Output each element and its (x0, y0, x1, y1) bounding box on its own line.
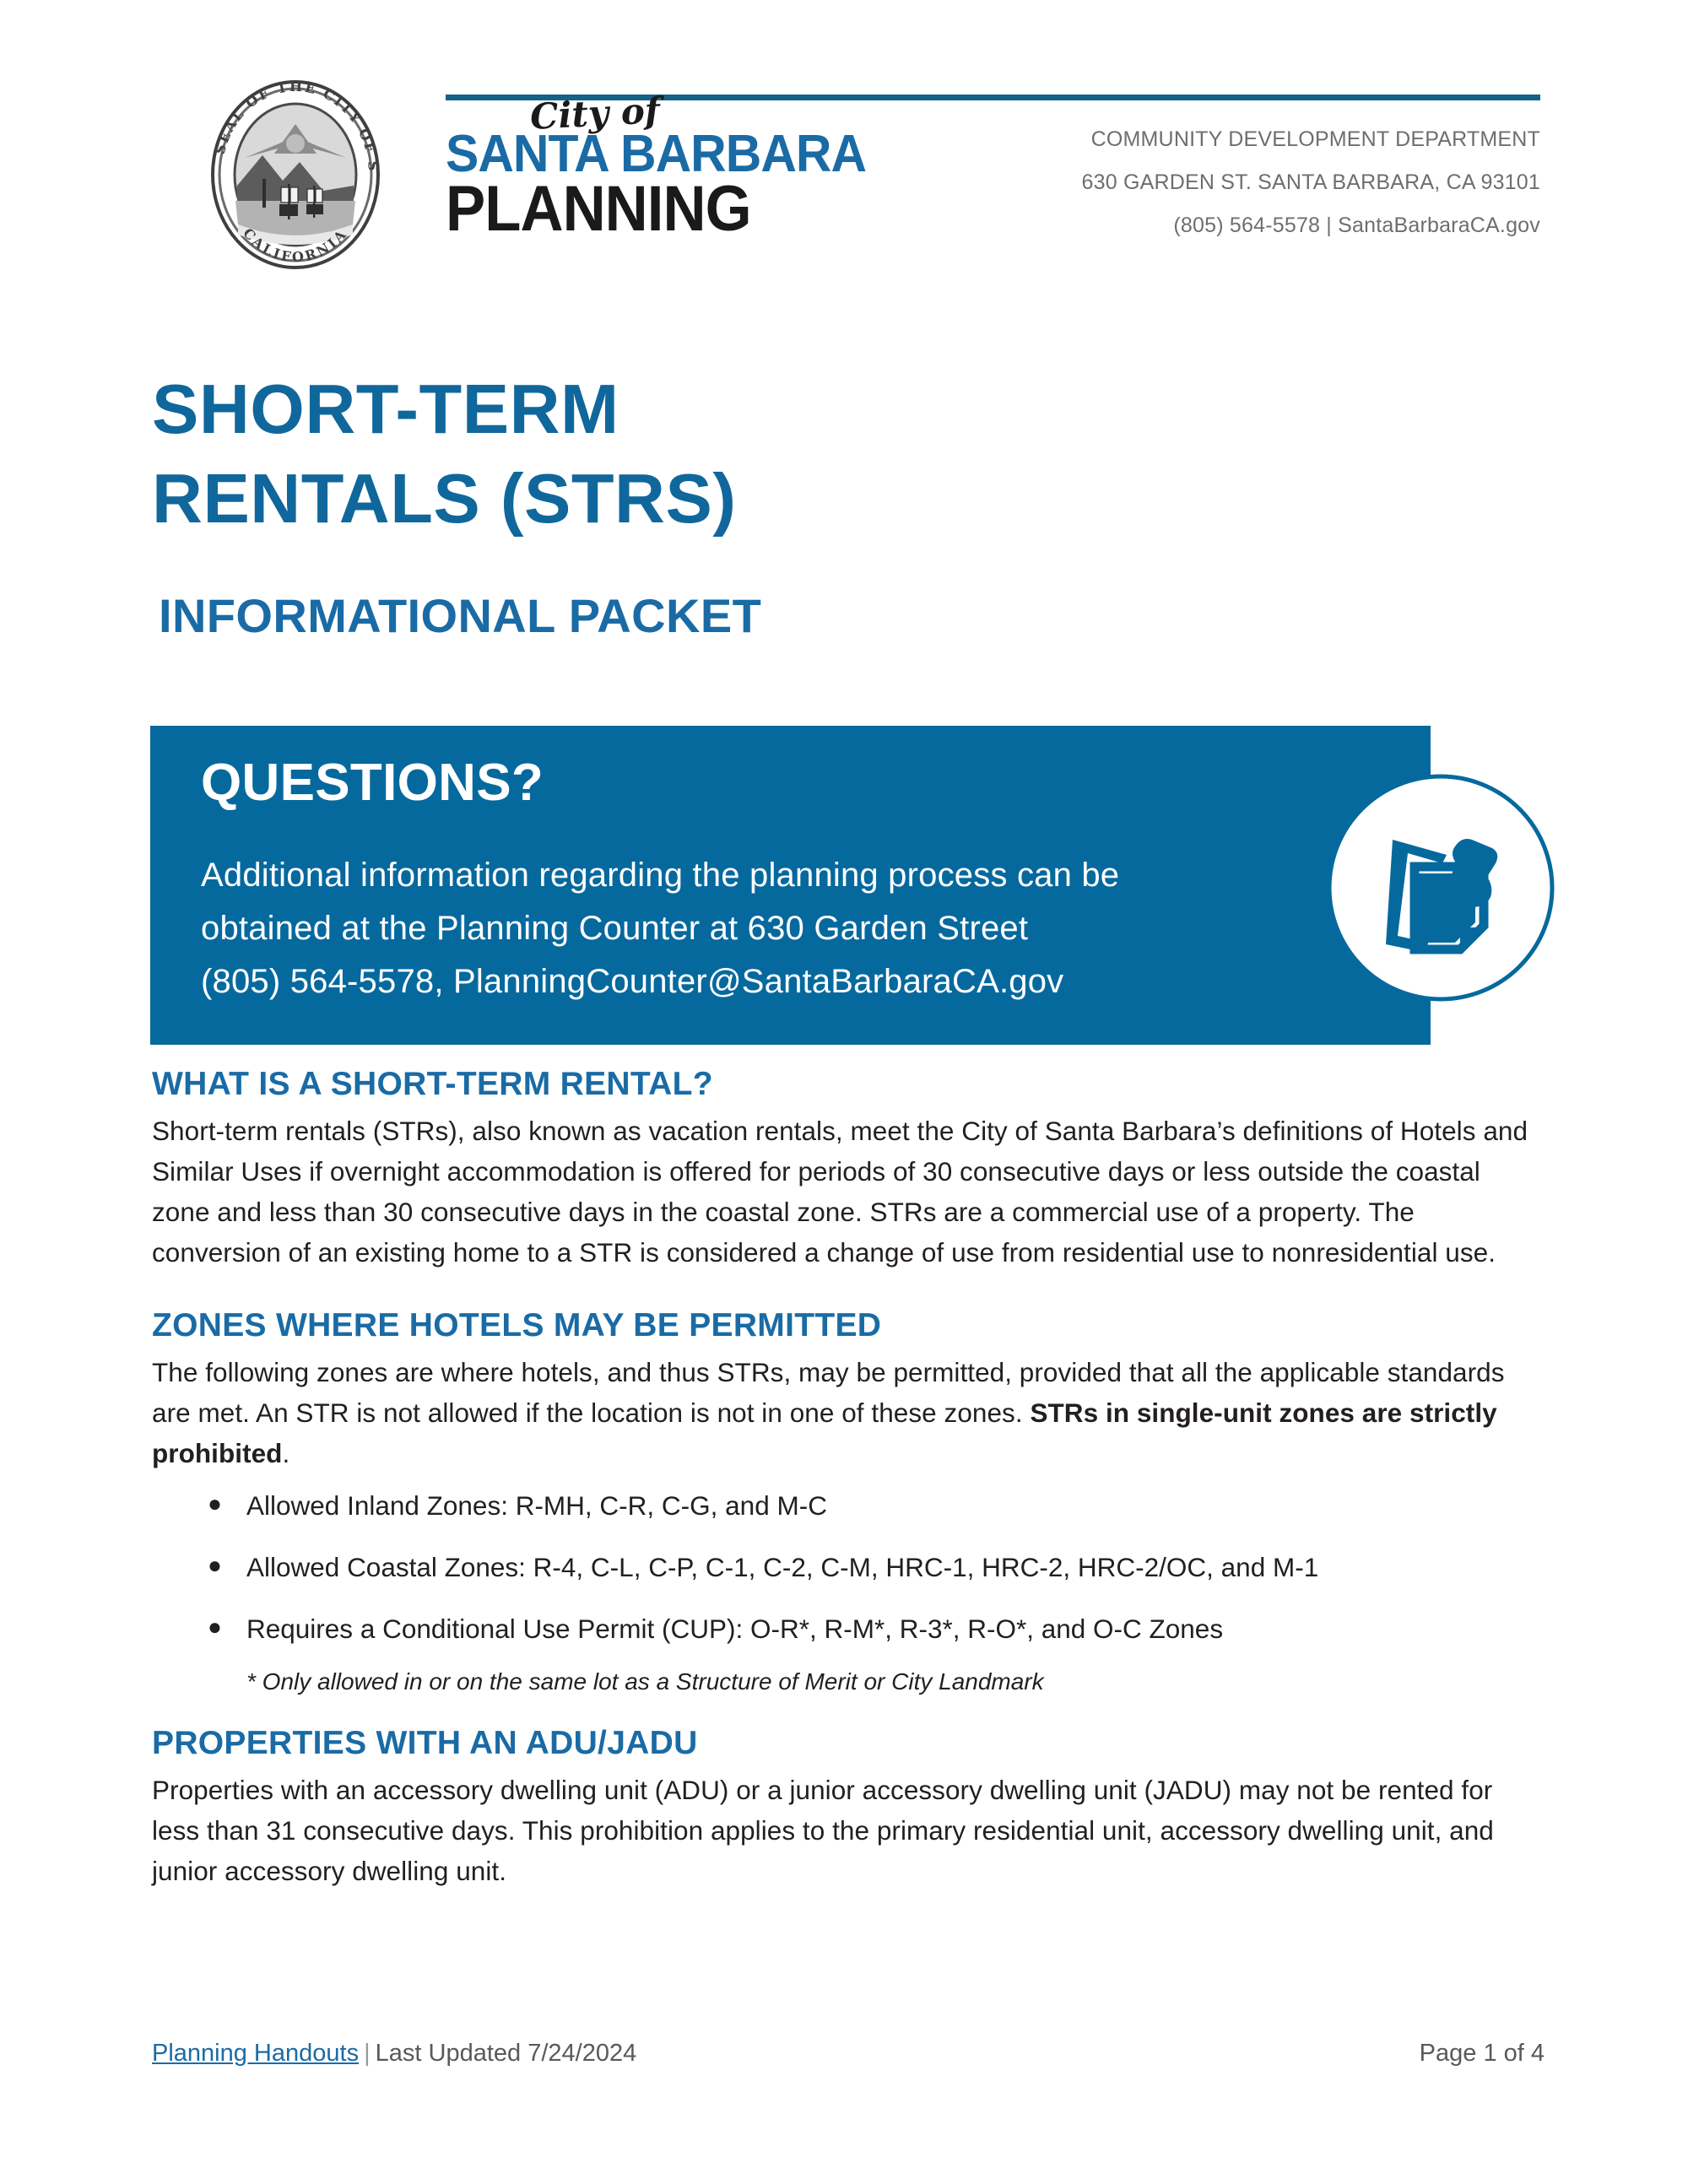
list-item-label: Requires a Conditional Use Permit (CUP):… (246, 1614, 1223, 1644)
questions-body-line2: obtained at the Planning Counter at 630 … (201, 902, 1256, 955)
zones-tail-text: . (282, 1438, 289, 1468)
footer-page-number: Page 1 of 4 (1420, 2038, 1545, 2068)
section-zones-where-hotels-permitted: ZONES WHERE HOTELS MAY BE PERMITTED The … (152, 1306, 1545, 1699)
section-heading: PROPERTIES WITH AN ADU/JADU (152, 1724, 1545, 1763)
footer-left: Planning Handouts|Last Updated 7/24/2024 (152, 2038, 636, 2068)
section-paragraph: Short-term rentals (STRs), also known as… (152, 1111, 1545, 1273)
section-what-is-a-str: WHAT IS A SHORT-TERM RENTAL? Short-term … (152, 1065, 1545, 1273)
logo-planning: PLANNING (446, 177, 751, 241)
planning-handouts-link[interactable]: Planning Handouts (152, 2040, 359, 2067)
page-title-line2: RENTALS (STRS) (152, 454, 1165, 543)
contact-line-department: COMMUNITY DEVELOPMENT DEPARTMENT (781, 118, 1540, 161)
allowed-zones-list: ● Allowed Inland Zones: R-MH, C-R, C-G, … (152, 1487, 1545, 1647)
list-item: ● Requires a Conditional Use Permit (CUP… (152, 1610, 1545, 1647)
section-properties-with-adu-jadu: PROPERTIES WITH AN ADU/JADU Properties w… (152, 1724, 1545, 1891)
questions-body-line3: (805) 564-5578, PlanningCounter@SantaBar… (201, 955, 1256, 1008)
footer-last-updated: Last Updated 7/24/2024 (376, 2040, 637, 2067)
page-subtitle: INFORMATIONAL PACKET (159, 591, 761, 641)
questions-body-line1: Additional information regarding the pla… (201, 849, 1256, 902)
planning-logo: City of SANTA BARBARA PLANNING (446, 93, 800, 253)
section-heading: WHAT IS A SHORT-TERM RENTAL? (152, 1065, 1545, 1104)
questions-heading: QUESTIONS? (201, 753, 544, 814)
page-title-line1: SHORT-TERM (152, 365, 1165, 454)
bullet-icon: ● (208, 1547, 222, 1584)
list-item: ● Allowed Inland Zones: R-MH, C-R, C-G, … (152, 1487, 1545, 1524)
page-header: SEAL OF THE CITY OF SANTA CALIFORNIA Cit… (0, 0, 1688, 312)
bullet-icon: ● (208, 1608, 222, 1646)
contact-line-phone-web: (805) 564-5578 | SantaBarbaraCA.gov (781, 204, 1540, 247)
page-footer: Planning Handouts|Last Updated 7/24/2024… (152, 2038, 1545, 2068)
footer-separator: | (359, 2040, 376, 2067)
spacer (152, 1699, 1545, 1724)
section-paragraph: The following zones are where hotels, an… (152, 1352, 1545, 1473)
city-seal-icon: SEAL OF THE CITY OF SANTA CALIFORNIA (181, 78, 409, 272)
section-heading: ZONES WHERE HOTELS MAY BE PERMITTED (152, 1306, 1545, 1345)
list-item-label: Allowed Coastal Zones: R-4, C-L, C-P, C-… (246, 1552, 1318, 1582)
contact-line-address: 630 GARDEN ST. SANTA BARBARA, CA 93101 (781, 161, 1540, 204)
pinned-documents-icon (1327, 774, 1555, 1002)
bullet-icon: ● (208, 1485, 222, 1522)
section-paragraph: Properties with an accessory dwelling un… (152, 1770, 1545, 1891)
list-item-label: Allowed Inland Zones: R-MH, C-R, C-G, an… (246, 1490, 827, 1521)
document-body: WHAT IS A SHORT-TERM RENTAL? Short-term … (152, 1065, 1545, 1891)
questions-callout-box: QUESTIONS? Additional information regard… (150, 726, 1431, 1045)
spacer (152, 1273, 1545, 1306)
questions-body: Additional information regarding the pla… (201, 849, 1256, 1008)
list-item: ● Allowed Coastal Zones: R-4, C-L, C-P, … (152, 1549, 1545, 1586)
zones-footnote: * Only allowed in or on the same lot as … (246, 1665, 1545, 1699)
department-contact-info: COMMUNITY DEVELOPMENT DEPARTMENT 630 GAR… (781, 118, 1540, 247)
page-title: SHORT-TERM RENTALS (STRS) (152, 365, 1165, 543)
